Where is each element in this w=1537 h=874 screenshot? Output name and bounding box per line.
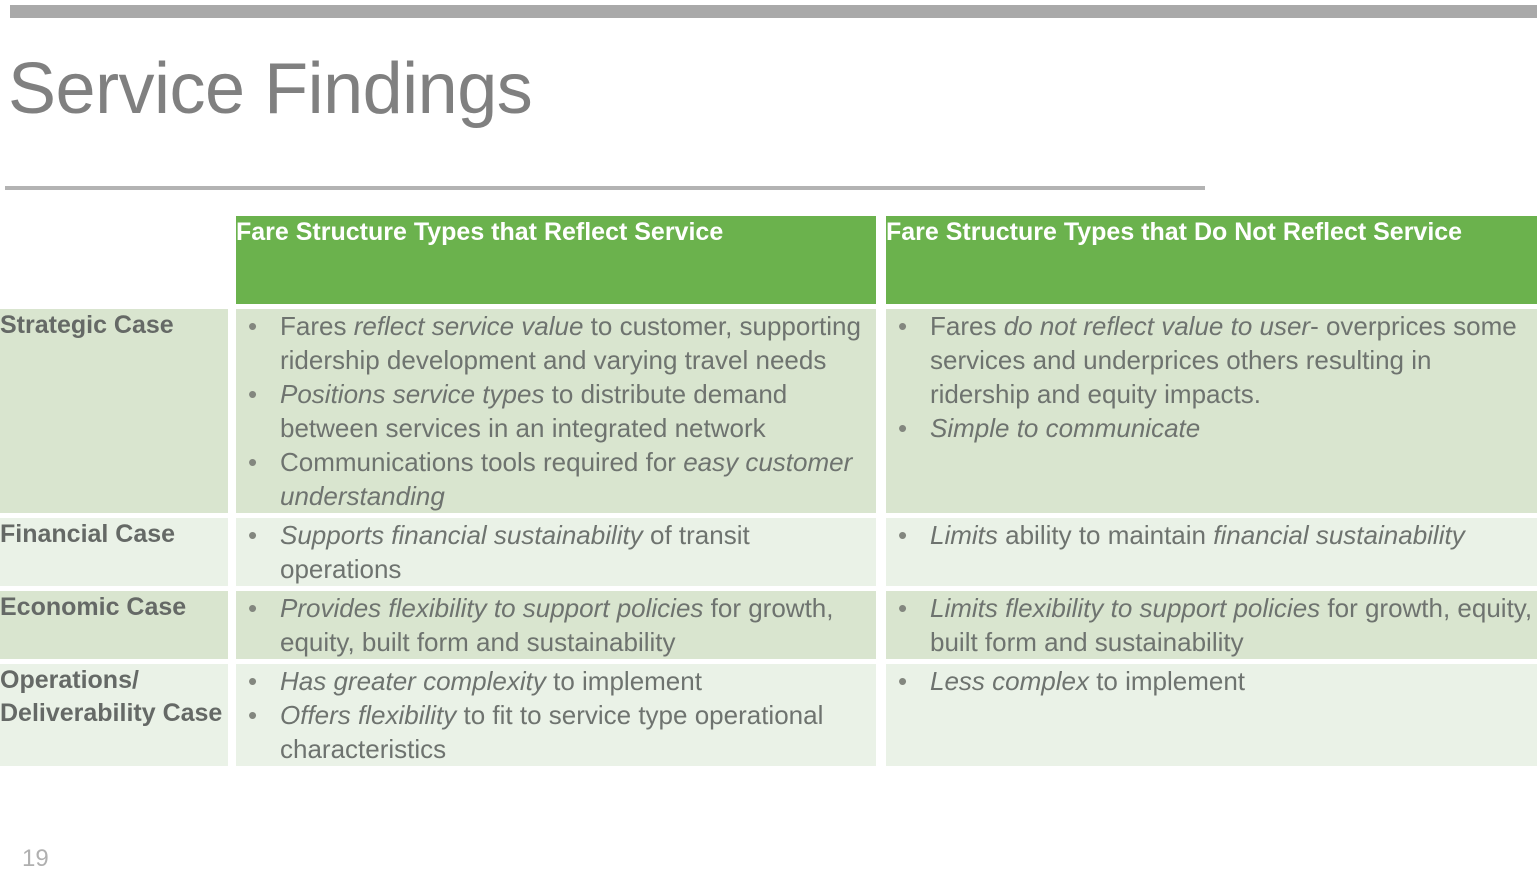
- table-row: Operations/ Deliverability CaseHas great…: [0, 664, 1537, 766]
- cell-reflect-service: Supports financial sustainability of tra…: [236, 518, 876, 586]
- page-number: 19: [22, 845, 49, 873]
- bullet-item: Provides flexibility to support policies…: [236, 591, 876, 659]
- bullet-item: Has greater complexity to implement: [236, 664, 876, 698]
- bullet-item: Supports financial sustainability of tra…: [236, 518, 876, 586]
- bullet-list-not-reflect-1: Limits ability to maintain financial sus…: [886, 518, 1537, 552]
- row-case-label: Operations/ Deliverability Case: [0, 664, 228, 766]
- header-cell-do-not-reflect-service: Fare Structure Types that Do Not Reflect…: [886, 216, 1537, 304]
- table-header: Fare Structure Types that Reflect Servic…: [0, 216, 1537, 309]
- cell-do-not-reflect-service: Fares do not reflect value to user- over…: [886, 309, 1537, 513]
- bullet-item: Limits ability to maintain financial sus…: [886, 518, 1537, 552]
- bullet-item: Limits flexibility to support policies f…: [886, 591, 1537, 659]
- column-gap-2: [876, 518, 886, 586]
- bullet-list-not-reflect-2: Limits flexibility to support policies f…: [886, 591, 1537, 659]
- plain-text: Communications tools required for: [280, 447, 683, 477]
- top-decorative-bar: [10, 5, 1537, 18]
- title-divider-rule: [5, 186, 1205, 190]
- emphasis-text: Supports financial sustainability: [280, 520, 643, 550]
- bullet-item: Fares do not reflect value to user- over…: [886, 309, 1537, 411]
- emphasis-text: Positions service types: [280, 379, 544, 409]
- row-case-label: Strategic Case: [0, 309, 228, 513]
- bullet-list-not-reflect-3: Less complex to implement: [886, 664, 1537, 698]
- column-gap-2: [876, 591, 886, 659]
- header-cell-case-column: [0, 216, 228, 304]
- page-title: Service Findings: [8, 47, 532, 131]
- service-findings-table: Fare Structure Types that Reflect Servic…: [0, 216, 1537, 766]
- emphasis-text: Limits: [930, 520, 998, 550]
- cell-reflect-service: Fares reflect service value to customer,…: [236, 309, 876, 513]
- bullet-item: Less complex to implement: [886, 664, 1537, 698]
- column-gap-2: [876, 309, 886, 513]
- slide-canvas: Service Findings Fare Structure Types th…: [0, 0, 1537, 874]
- emphasis-text: Limits flexibility to support policies: [930, 593, 1320, 623]
- emphasis-text: Has greater complexity: [280, 666, 546, 696]
- cell-reflect-service: Has greater complexity to implementOffer…: [236, 664, 876, 766]
- emphasis-text: Offers flexibility: [280, 700, 456, 730]
- table-row: Economic CaseProvides flexibility to sup…: [0, 591, 1537, 659]
- plain-text: Fares: [930, 311, 1004, 341]
- bullet-list-not-reflect-0: Fares do not reflect value to user- over…: [886, 309, 1537, 445]
- column-gap-1: [228, 309, 236, 513]
- bullet-list-reflect-0: Fares reflect service value to customer,…: [236, 309, 876, 513]
- table-body: Strategic CaseFares reflect service valu…: [0, 309, 1537, 766]
- cell-do-not-reflect-service: Less complex to implement: [886, 664, 1537, 766]
- bullet-list-reflect-1: Supports financial sustainability of tra…: [236, 518, 876, 586]
- column-gap-1: [228, 591, 236, 659]
- column-gap-1: [228, 664, 236, 766]
- bullet-list-reflect-2: Provides flexibility to support policies…: [236, 591, 876, 659]
- table-row: Financial CaseSupports financial sustain…: [0, 518, 1537, 586]
- emphasis-text: Provides flexibility to support policies: [280, 593, 703, 623]
- bullet-item: Positions service types to distribute de…: [236, 377, 876, 445]
- emphasis-text: reflect service value: [354, 311, 584, 341]
- bullet-item: Simple to communicate: [886, 411, 1537, 445]
- cell-reflect-service: Provides flexibility to support policies…: [236, 591, 876, 659]
- row-case-label: Economic Case: [0, 591, 228, 659]
- table-header-row: Fare Structure Types that Reflect Servic…: [0, 216, 1537, 304]
- plain-text: to implement: [546, 666, 702, 696]
- emphasis-text: financial sustainability: [1213, 520, 1464, 550]
- column-gap-2: [876, 216, 886, 304]
- column-gap-2: [876, 664, 886, 766]
- bullet-item: Fares reflect service value to customer,…: [236, 309, 876, 377]
- header-cell-reflect-service: Fare Structure Types that Reflect Servic…: [236, 216, 876, 304]
- table-row: Strategic CaseFares reflect service valu…: [0, 309, 1537, 513]
- emphasis-text: Less complex: [930, 666, 1089, 696]
- plain-text: to implement: [1089, 666, 1245, 696]
- plain-text: ability to maintain: [998, 520, 1213, 550]
- bullet-list-reflect-3: Has greater complexity to implementOffer…: [236, 664, 876, 766]
- emphasis-text: do not reflect value to user: [1004, 311, 1310, 341]
- row-case-label: Financial Case: [0, 518, 228, 586]
- emphasis-text: Simple to communicate: [930, 413, 1200, 443]
- cell-do-not-reflect-service: Limits flexibility to support policies f…: [886, 591, 1537, 659]
- column-gap-1: [228, 518, 236, 586]
- column-gap-1: [228, 216, 236, 304]
- plain-text: Fares: [280, 311, 354, 341]
- bullet-item: Communications tools required for easy c…: [236, 445, 876, 513]
- bullet-item: Offers flexibility to fit to service typ…: [236, 698, 876, 766]
- cell-do-not-reflect-service: Limits ability to maintain financial sus…: [886, 518, 1537, 586]
